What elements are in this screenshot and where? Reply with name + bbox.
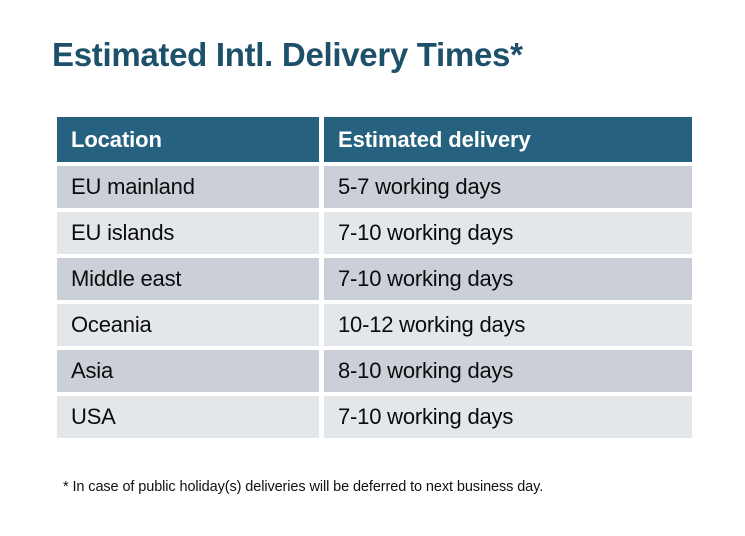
- cell-location: Middle east: [57, 258, 319, 300]
- table-row: EU islands 7-10 working days: [57, 212, 692, 254]
- cell-location: Asia: [57, 350, 319, 392]
- table-row: Oceania 10-12 working days: [57, 304, 692, 346]
- table-body: EU mainland 5-7 working days EU islands …: [57, 166, 692, 438]
- table-row: EU mainland 5-7 working days: [57, 166, 692, 208]
- cell-delivery: 10-12 working days: [324, 304, 692, 346]
- cell-location: EU islands: [57, 212, 319, 254]
- cell-location: EU mainland: [57, 166, 319, 208]
- table-row: USA 7-10 working days: [57, 396, 692, 438]
- cell-location: USA: [57, 396, 319, 438]
- cell-location: Oceania: [57, 304, 319, 346]
- cell-delivery: 7-10 working days: [324, 258, 692, 300]
- cell-delivery: 7-10 working days: [324, 212, 692, 254]
- column-header-location: Location: [57, 117, 319, 162]
- delivery-times-page: Estimated Intl. Delivery Times* Location…: [0, 0, 745, 536]
- cell-delivery: 8-10 working days: [324, 350, 692, 392]
- column-header-estimated-delivery: Estimated delivery: [324, 117, 692, 162]
- cell-delivery: 5-7 working days: [324, 166, 692, 208]
- table-row: Asia 8-10 working days: [57, 350, 692, 392]
- table-header-row: Location Estimated delivery: [57, 117, 692, 162]
- page-title: Estimated Intl. Delivery Times*: [52, 36, 523, 74]
- delivery-times-table: Location Estimated delivery EU mainland …: [52, 113, 697, 442]
- table-row: Middle east 7-10 working days: [57, 258, 692, 300]
- footnote: * In case of public holiday(s) deliverie…: [63, 479, 543, 495]
- table-header: Location Estimated delivery: [57, 117, 692, 162]
- cell-delivery: 7-10 working days: [324, 396, 692, 438]
